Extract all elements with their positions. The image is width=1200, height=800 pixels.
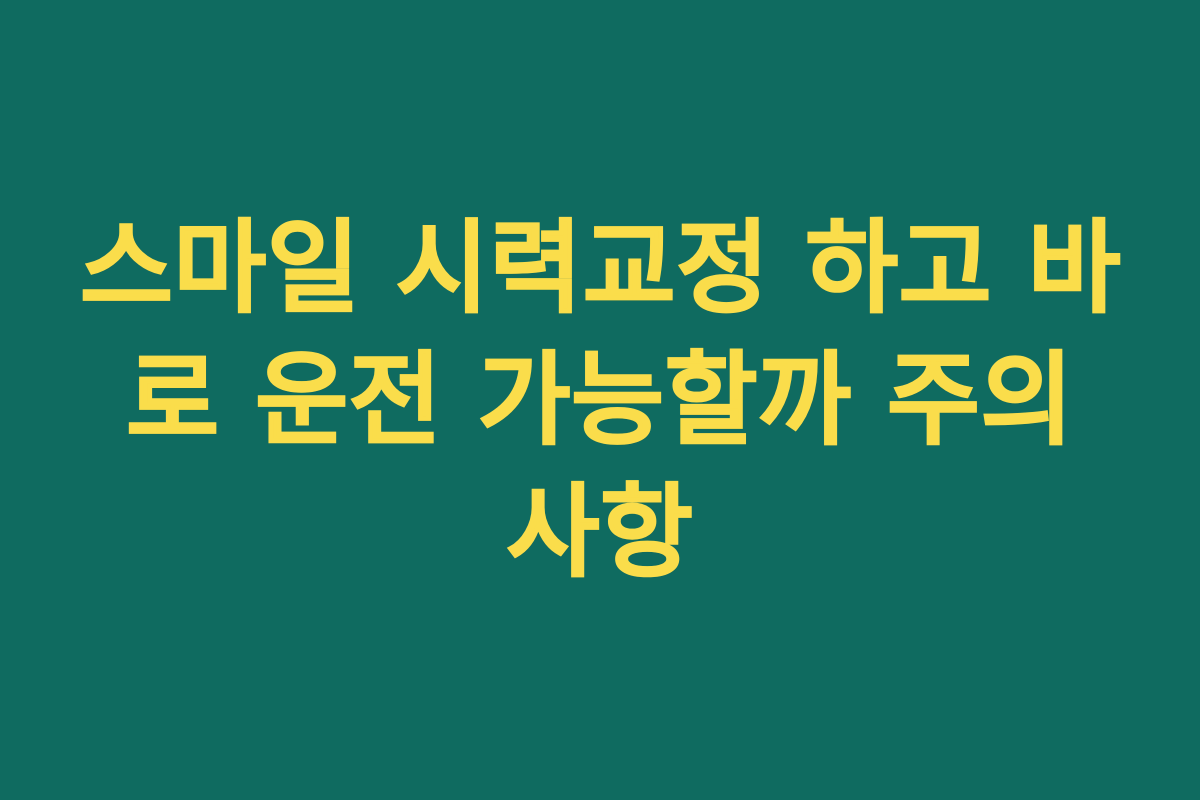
headline-line-1: 스마일 시력교정 하고 바 [80,202,1120,334]
thumbnail-card: 스마일 시력교정 하고 바 로 운전 가능할까 주의 사항 [0,0,1200,800]
headline-line-2: 로 운전 가능할까 주의 [80,334,1120,466]
headline-line-3: 사항 [80,466,1120,598]
headline-block: 스마일 시력교정 하고 바 로 운전 가능할까 주의 사항 [80,202,1120,598]
